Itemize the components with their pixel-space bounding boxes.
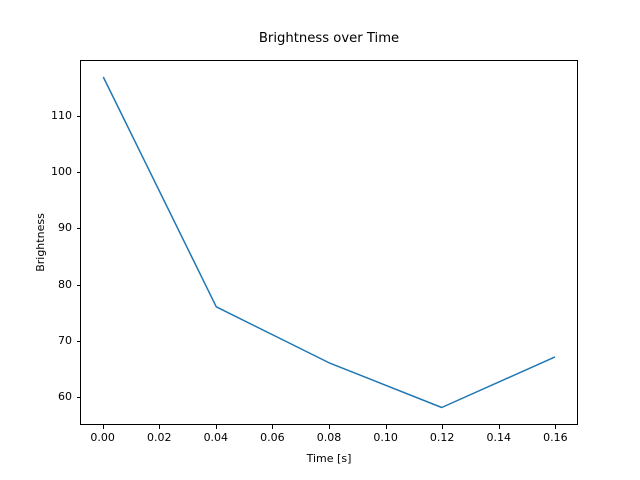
x-tick-mark	[272, 425, 273, 429]
x-tick-label: 0.16	[525, 431, 585, 444]
x-tick-mark	[159, 425, 160, 429]
y-tick-label: 90	[12, 221, 72, 234]
x-tick-label: 0.04	[186, 431, 246, 444]
y-tick-label: 80	[12, 278, 72, 291]
x-tick-mark	[216, 425, 217, 429]
y-tick-label: 70	[12, 334, 72, 347]
x-tick-label: 0.02	[129, 431, 189, 444]
y-tick-label: 110	[12, 109, 72, 122]
x-tick-mark	[386, 425, 387, 429]
x-tick-mark	[499, 425, 500, 429]
x-tick-label: 0.06	[242, 431, 302, 444]
x-tick-mark	[442, 425, 443, 429]
y-tick-label: 60	[12, 390, 72, 403]
series-brightness-line	[104, 77, 555, 407]
x-tick-label: 0.08	[299, 431, 359, 444]
x-tick-mark	[329, 425, 330, 429]
chart-title: Brightness over Time	[80, 31, 578, 47]
x-axis-label: Time [s]	[80, 452, 578, 465]
matplotlib-figure: Brightness over Time Brightness 60708090…	[0, 0, 640, 480]
x-tick-mark	[555, 425, 556, 429]
line-plot	[81, 61, 577, 424]
x-tick-label: 0.14	[469, 431, 529, 444]
x-tick-label: 0.12	[412, 431, 472, 444]
x-tick-mark	[103, 425, 104, 429]
plot-area	[80, 60, 578, 425]
x-tick-label: 0.10	[356, 431, 416, 444]
x-tick-label: 0.00	[73, 431, 133, 444]
y-tick-label: 100	[12, 165, 72, 178]
